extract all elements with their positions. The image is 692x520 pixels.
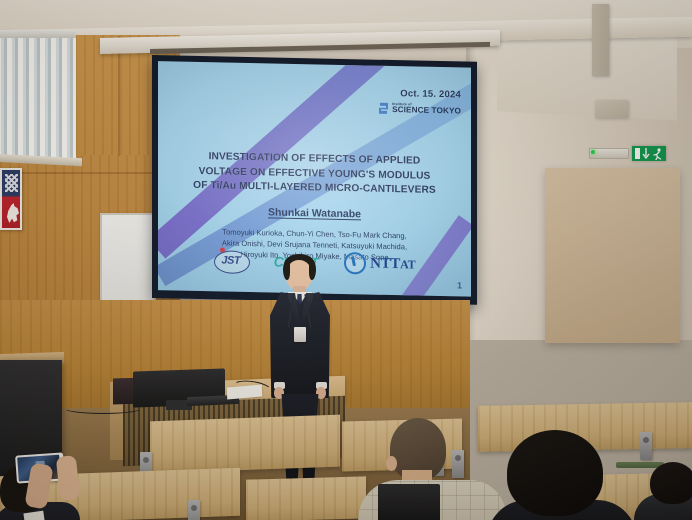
exit-door-icon [635, 148, 640, 159]
slide-speaker-name: Shunkai Watanabe [268, 206, 361, 220]
ntt-at-logo: NTTAT [344, 252, 415, 275]
wall-access-panel [595, 100, 628, 118]
audience-member-3 [640, 462, 692, 520]
jst-logo: JST [214, 247, 248, 274]
slide-title: INVESTIGATION OF EFFECTS OF APPLIED VOLT… [165, 149, 465, 199]
down-arrow-icon [642, 148, 650, 160]
emergency-light [589, 148, 629, 159]
lecture-hall-photo: Oct. 15. 2024 Institute of SCIENCE TOKYO… [0, 0, 692, 520]
photographer-collar [23, 511, 44, 520]
wood-seam [118, 36, 120, 156]
podium-cable [63, 402, 143, 414]
slide-date: Oct. 15. 2024 [400, 88, 461, 100]
audience-member-2 [495, 430, 625, 520]
audience-ear [386, 456, 397, 471]
bench-bracket [188, 500, 200, 520]
audience-head [650, 462, 692, 504]
czech-coat-of-arms-poster [0, 168, 22, 230]
photographer-hand [56, 455, 80, 501]
brand-title: SCIENCE TOKYO [392, 106, 461, 116]
audience-photographer [0, 440, 110, 520]
window [0, 33, 76, 158]
ntt-at-suffix: AT [400, 257, 415, 271]
audience-head [507, 430, 603, 516]
bench-row [150, 415, 340, 474]
presenter-name-badge [294, 327, 306, 342]
window-blinds[interactable] [0, 35, 76, 158]
running-person-icon [652, 148, 663, 160]
ntt-logo-text: NTT [370, 255, 400, 272]
doorway-frame [545, 168, 680, 343]
bench-row [246, 476, 366, 520]
science-tokyo-logo: Institute of SCIENCE TOKYO [378, 102, 461, 117]
audience-laptop [378, 484, 440, 520]
jst-logo-text: JST [214, 247, 248, 274]
slide-page-number: 1 [457, 280, 462, 290]
emergency-exit-sign [632, 146, 666, 161]
presenter-hair-side [309, 262, 316, 280]
lion-emblem-icon [7, 203, 19, 223]
emergency-light-led-icon [591, 150, 595, 154]
presenter-hair-side [283, 262, 290, 280]
science-tokyo-mark-icon [378, 102, 389, 115]
wall-speaker [592, 4, 609, 76]
ntt-mark-icon [344, 252, 366, 274]
bench-bracket [640, 432, 652, 460]
blinds-headrail [0, 30, 76, 38]
